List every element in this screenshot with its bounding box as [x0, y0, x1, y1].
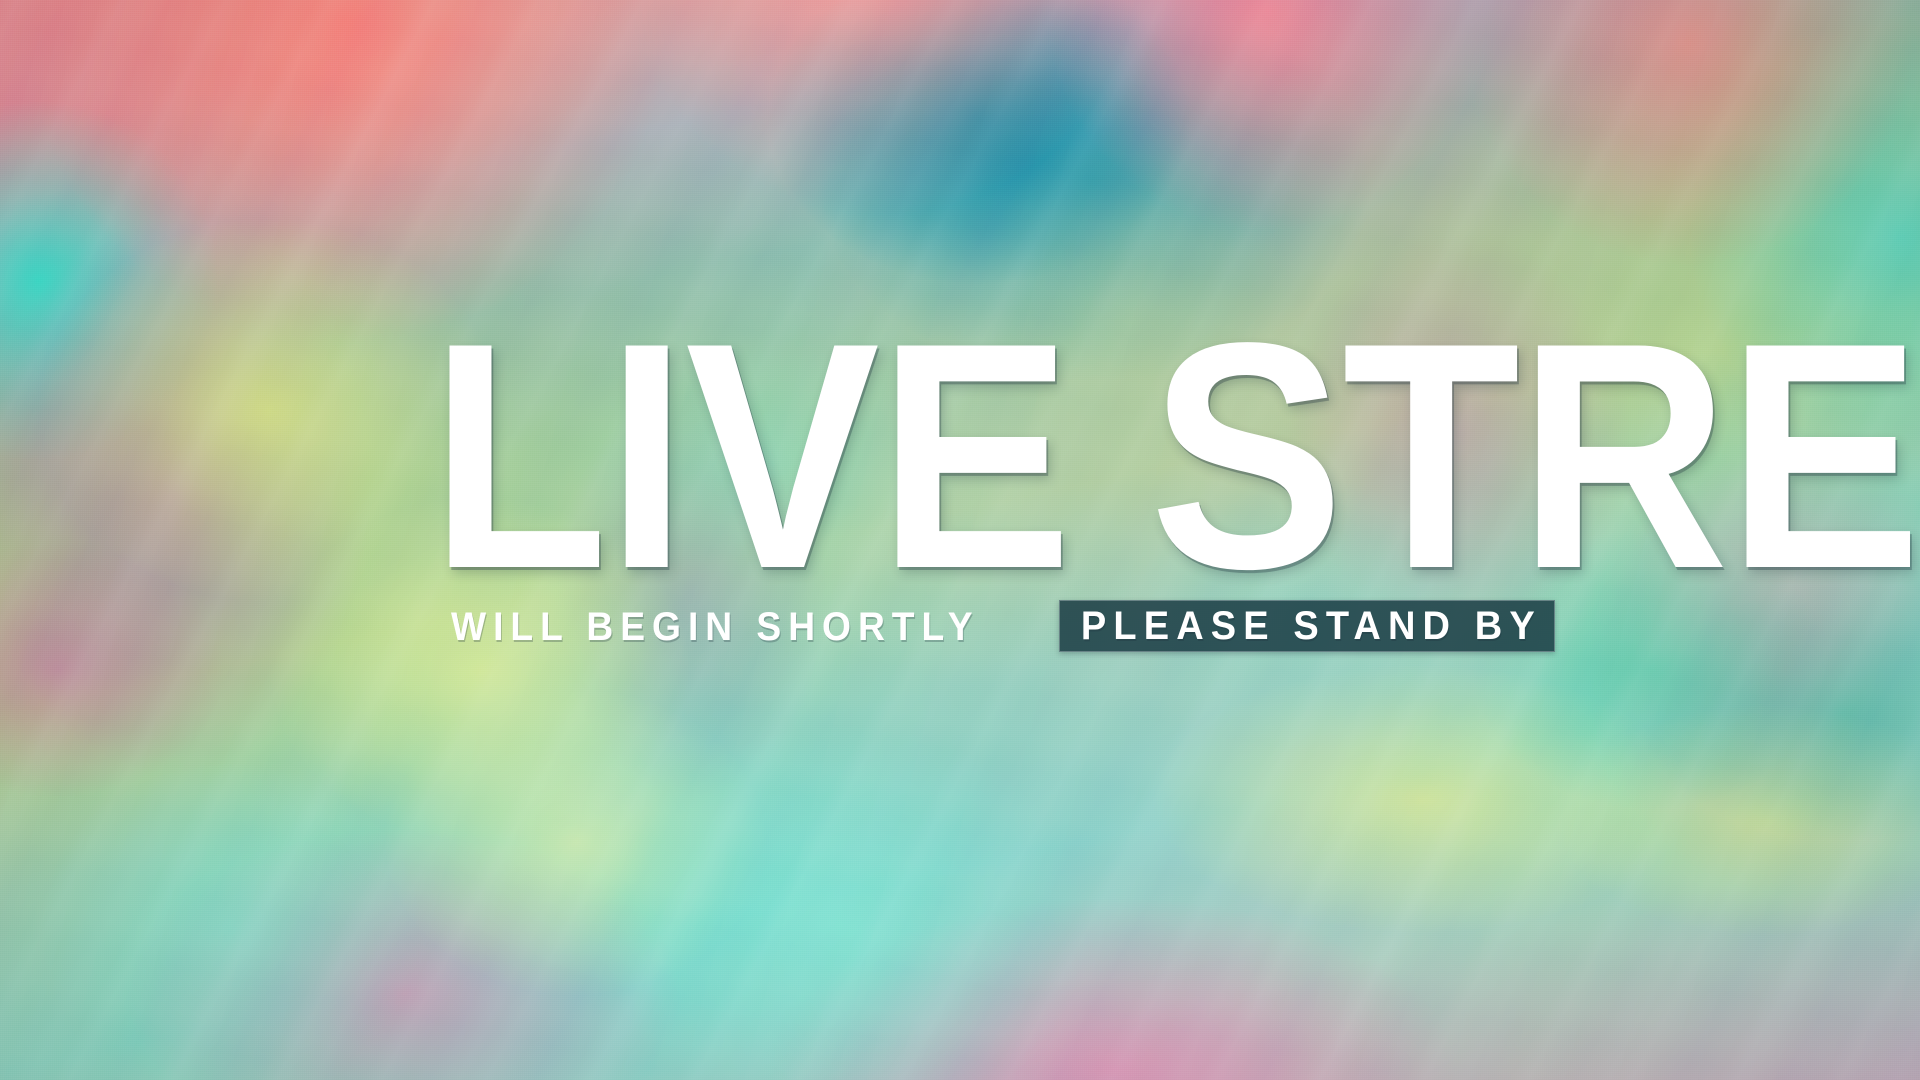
subtitle-lead-text: WILL BEGIN SHORTLY: [451, 600, 1017, 652]
standby-badge: PLEASE STAND BY: [1059, 600, 1555, 652]
subtitle-row: WILL BEGIN SHORTLY PLEASE STAND BY: [451, 600, 1502, 652]
standby-card: LIVE STREAM WILL BEGIN SHORTLY PLEASE ST…: [0, 0, 1920, 1080]
page-title: LIVE STREAM: [430, 338, 1400, 576]
standby-badge-label: PLEASE STAND BY: [1073, 606, 1541, 646]
text-block: LIVE STREAM WILL BEGIN SHORTLY PLEASE ST…: [430, 338, 1502, 652]
